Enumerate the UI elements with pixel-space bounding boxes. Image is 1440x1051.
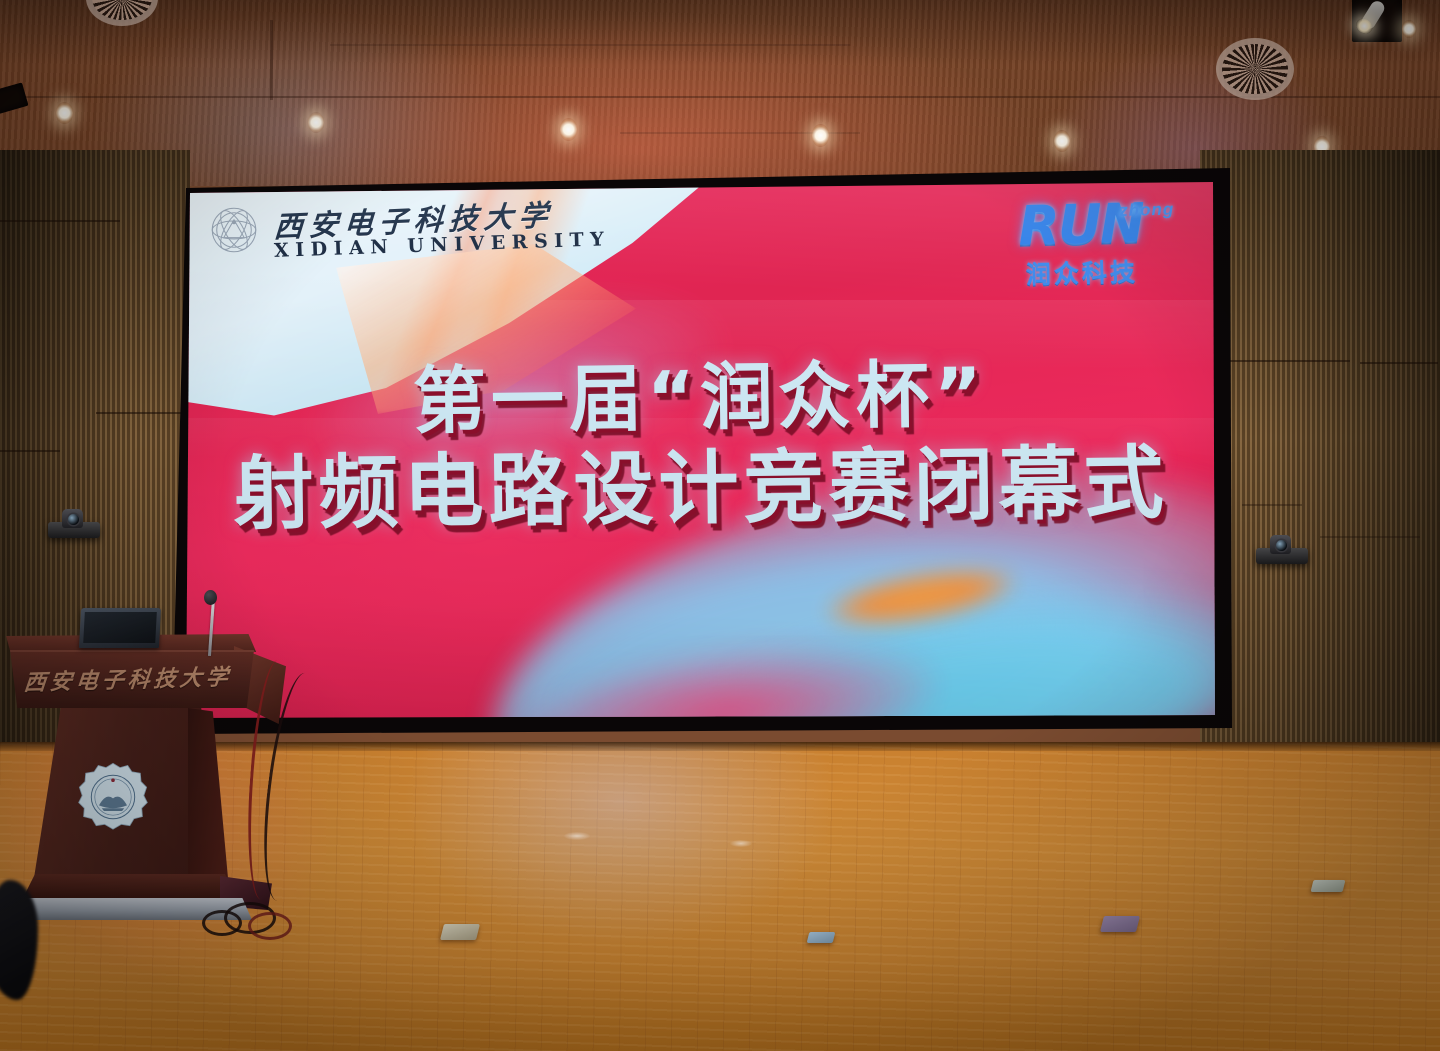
floor-highlight [564,832,590,840]
floor-outlet [1311,880,1346,892]
downlight-icon [56,102,73,124]
podium-plinth [22,874,238,900]
wall-camera-right [1256,548,1308,564]
ceiling-vent-icon [1222,44,1288,94]
right-wall [1200,150,1440,790]
floor-highlight [730,840,752,847]
sponsor-name-cn: 润众科技 [981,251,1182,292]
xidian-emblem-icon [202,198,266,262]
screen-title: 第一届“润众杯” 射频电路设计竞赛闭幕式 [186,352,1215,540]
podium: 西安电子科技大学 [6,612,274,942]
floor-outlet [440,924,480,940]
title-line-2: 射频电路设计竞赛闭幕式 [186,437,1215,539]
podium-laptop [79,608,161,648]
sponsor-logo: zhong RUN 润众科技 [980,195,1182,284]
downlight-icon [560,118,577,141]
title-line-1: 第一届“润众杯” [186,352,1215,446]
podium-inscription: 西安电子科技大学 [23,659,246,697]
downlight-icon [308,112,324,133]
floor-outlet [807,932,836,943]
cable-coil [202,910,242,936]
downlight-icon [1402,20,1416,38]
spotlight-icon [1359,0,1387,31]
cable-coil [248,912,292,940]
wall-camera-left [48,522,100,538]
downlight-icon [1054,130,1070,152]
ceiling-seam [270,20,273,100]
ceiling-seam [0,96,1440,98]
microphone-head-icon [204,590,217,605]
ceiling-track-slot [1352,0,1402,42]
sponsor-superscript: zhong [1119,200,1175,221]
podium-column-edge [188,708,228,878]
led-screen: 西安电子科技大学 XIDIAN UNIVERSITY zhong RUN 润众科… [186,182,1215,718]
floor-outlet [1100,916,1140,932]
downlight-icon [812,124,829,147]
podium-seal-icon [78,762,148,832]
auditorium-photo: 西安电子科技大学 XIDIAN UNIVERSITY zhong RUN 润众科… [0,0,1440,1051]
ceiling-seam [330,44,850,46]
